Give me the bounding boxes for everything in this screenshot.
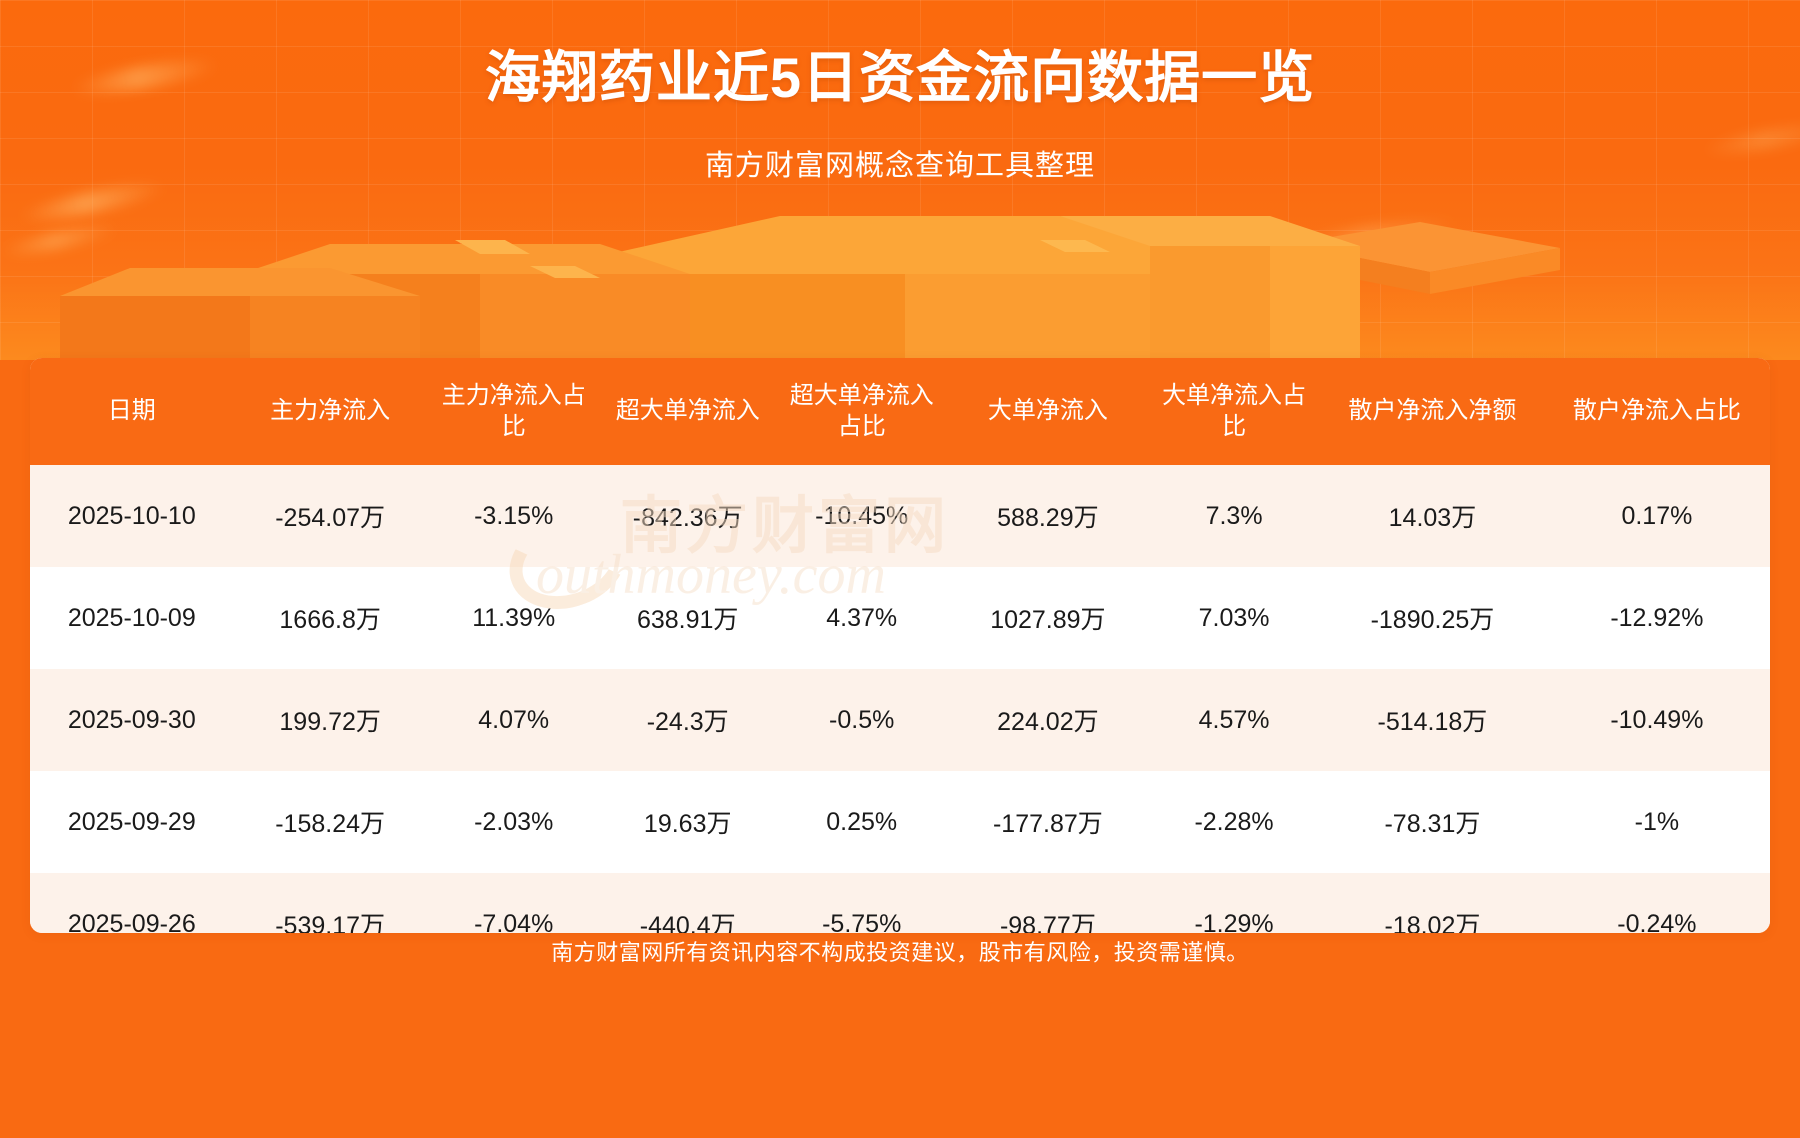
table-row: 2025-09-26 -539.17万 -7.04% -440.4万 -5.75… [30, 873, 1770, 933]
cell-super-pct: 0.25% [775, 771, 949, 873]
cell-super-pct: -5.75% [775, 873, 949, 933]
cell-main-pct: -7.04% [427, 873, 601, 933]
table-body: 2025-10-10 -254.07万 -3.15% -842.36万 -10.… [30, 465, 1770, 933]
cell-big-pct: 4.57% [1147, 669, 1321, 771]
cell-super-net: -440.4万 [601, 873, 775, 933]
cell-big-net: -177.87万 [949, 771, 1147, 873]
cell-main-pct: 4.07% [427, 669, 601, 771]
cell-main-net: -158.24万 [234, 771, 427, 873]
cell-retail-net: 14.03万 [1321, 465, 1544, 567]
fund-flow-table-card: 日期 主力净流入 主力净流入占比 超大单净流入 超大单净流入占比 大单净流入 大… [30, 358, 1770, 933]
cell-super-net: -842.36万 [601, 465, 775, 567]
cell-retail-net: -18.02万 [1321, 873, 1544, 933]
column-header-retail-net: 散户净流入净额 [1321, 358, 1544, 465]
cell-retail-net: -514.18万 [1321, 669, 1544, 771]
column-header-big-pct: 大单净流入占比 [1147, 358, 1321, 465]
cell-retail-net: -1890.25万 [1321, 567, 1544, 669]
cell-date: 2025-10-09 [30, 567, 234, 669]
cell-super-pct: 4.37% [775, 567, 949, 669]
column-header-main-pct: 主力净流入占比 [427, 358, 601, 465]
column-header-retail-pct: 散户净流入占比 [1544, 358, 1770, 465]
cell-big-net: 224.02万 [949, 669, 1147, 771]
cell-retail-pct: -12.92% [1544, 567, 1770, 669]
cell-big-pct: -2.28% [1147, 771, 1321, 873]
cell-main-net: 1666.8万 [234, 567, 427, 669]
column-header-super-pct: 超大单净流入占比 [775, 358, 949, 465]
table-row: 2025-10-09 1666.8万 11.39% 638.91万 4.37% … [30, 567, 1770, 669]
cell-main-net: -539.17万 [234, 873, 427, 933]
table-header: 日期 主力净流入 主力净流入占比 超大单净流入 超大单净流入占比 大单净流入 大… [30, 358, 1770, 465]
cell-date: 2025-09-30 [30, 669, 234, 771]
cell-retail-pct: -0.24% [1544, 873, 1770, 933]
column-header-date: 日期 [30, 358, 234, 465]
cell-big-net: 1027.89万 [949, 567, 1147, 669]
hero-banner: 海翔药业近5日资金流向数据一览 南方财富网概念查询工具整理 [0, 0, 1800, 360]
table-row: 2025-09-29 -158.24万 -2.03% 19.63万 0.25% … [30, 771, 1770, 873]
page-subtitle: 南方财富网概念查询工具整理 [0, 148, 1800, 186]
column-header-main-net: 主力净流入 [234, 358, 427, 465]
podium-illustration [0, 182, 1800, 360]
cell-date: 2025-10-10 [30, 465, 234, 567]
column-header-super-net: 超大单净流入 [601, 358, 775, 465]
cell-super-pct: -0.5% [775, 669, 949, 771]
cell-date: 2025-09-26 [30, 873, 234, 933]
cell-main-pct: 11.39% [427, 567, 601, 669]
cell-main-net: 199.72万 [234, 669, 427, 771]
footer-disclaimer: 南方财富网所有资讯内容不构成投资建议，股市有风险，投资需谨慎。 [0, 935, 1800, 967]
cell-main-net: -254.07万 [234, 465, 427, 567]
table-header-row: 日期 主力净流入 主力净流入占比 超大单净流入 超大单净流入占比 大单净流入 大… [30, 358, 1770, 465]
cell-main-pct: -3.15% [427, 465, 601, 567]
page-title: 海翔药业近5日资金流向数据一览 [0, 46, 1800, 110]
podium-svg [0, 182, 1800, 360]
cell-big-pct: 7.03% [1147, 567, 1321, 669]
cell-big-net: 588.29万 [949, 465, 1147, 567]
cell-retail-pct: 0.17% [1544, 465, 1770, 567]
table-row: 2025-09-30 199.72万 4.07% -24.3万 -0.5% 22… [30, 669, 1770, 771]
table-row: 2025-10-10 -254.07万 -3.15% -842.36万 -10.… [30, 465, 1770, 567]
cell-retail-pct: -10.49% [1544, 669, 1770, 771]
cell-big-pct: -1.29% [1147, 873, 1321, 933]
cell-big-net: -98.77万 [949, 873, 1147, 933]
cell-main-pct: -2.03% [427, 771, 601, 873]
cell-super-net: 638.91万 [601, 567, 775, 669]
cell-big-pct: 7.3% [1147, 465, 1321, 567]
cell-super-net: 19.63万 [601, 771, 775, 873]
cell-retail-pct: -1% [1544, 771, 1770, 873]
column-header-big-net: 大单净流入 [949, 358, 1147, 465]
fund-flow-table: 日期 主力净流入 主力净流入占比 超大单净流入 超大单净流入占比 大单净流入 大… [30, 358, 1770, 933]
cell-super-net: -24.3万 [601, 669, 775, 771]
cell-retail-net: -78.31万 [1321, 771, 1544, 873]
cell-date: 2025-09-29 [30, 771, 234, 873]
cell-super-pct: -10.45% [775, 465, 949, 567]
